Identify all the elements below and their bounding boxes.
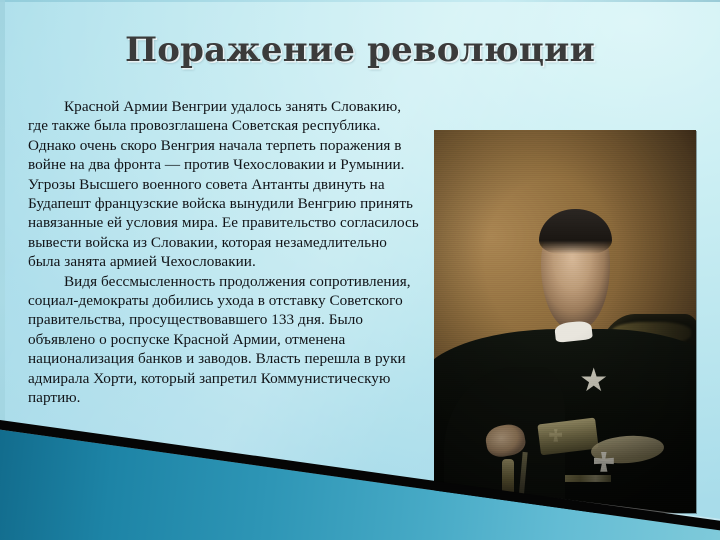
body-paragraph-1: Красной Армии Венгрии удалось занять Сло… — [28, 97, 420, 272]
slide-body-text: Красной Армии Венгрии удалось занять Сло… — [28, 97, 420, 408]
photo-grain — [434, 130, 696, 513]
top-hairline — [0, 0, 720, 2]
slide-title: Поражение революции — [40, 30, 680, 70]
figure-caption: Миклош Хорти — [434, 513, 696, 537]
portrait-photo — [434, 130, 696, 513]
body-paragraph-2: Видя бессмысленность продолжения сопроти… — [28, 272, 420, 408]
slide: Поражение революции Красной Армии Венгри… — [0, 0, 720, 540]
left-edge-line — [0, 0, 5, 540]
